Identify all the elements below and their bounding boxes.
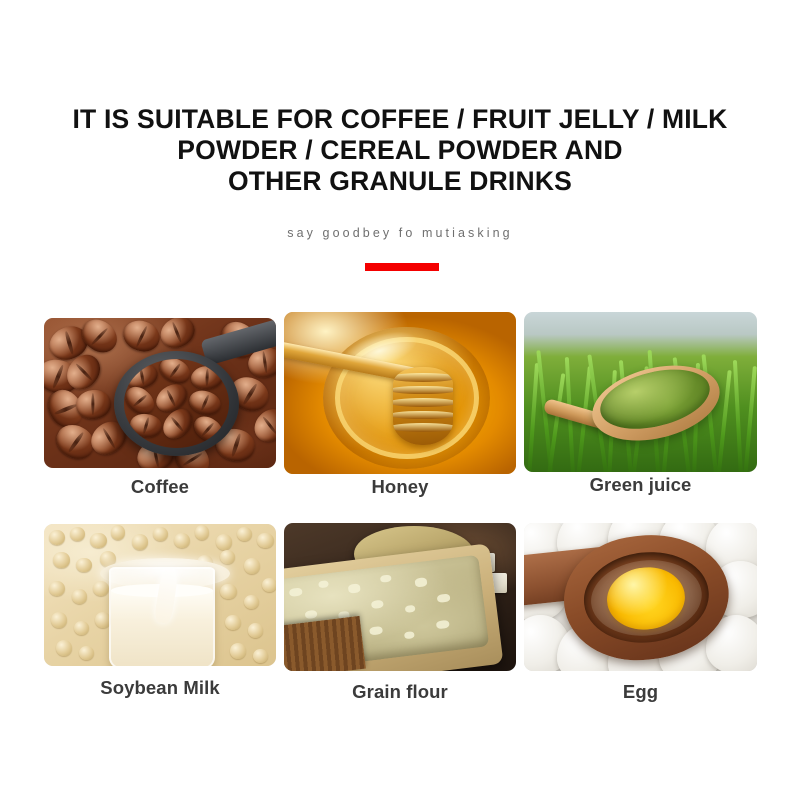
gallery-item-coffee[interactable]: Coffee xyxy=(44,318,276,468)
gallery-item-honey[interactable]: Honey xyxy=(284,312,516,474)
gallery-caption: Egg xyxy=(524,681,757,703)
gallery-caption: Green juice xyxy=(524,474,757,496)
gallery-item-grain-flour[interactable]: Grain flour xyxy=(284,523,516,671)
gallery-caption: Coffee xyxy=(44,476,276,498)
gallery-caption: Soybean Milk xyxy=(44,677,276,699)
gallery-item-egg[interactable]: Egg xyxy=(524,523,757,671)
grain-flour-tray-photo xyxy=(284,523,516,671)
gallery-caption: Honey xyxy=(284,476,516,498)
product-use-gallery: Coffee Honey xyxy=(0,0,800,800)
product-feature-page: IT IS SUITABLE FOR COFFEE / FRUIT JELLY … xyxy=(0,0,800,800)
egg-yolk-spoon-photo xyxy=(524,523,757,671)
coffee-beans-scoop-photo xyxy=(44,318,276,468)
green-powder-spoon-photo xyxy=(524,312,757,472)
gallery-item-soybean-milk[interactable]: Soybean Milk xyxy=(44,524,276,666)
gallery-item-green-juice[interactable]: Green juice xyxy=(524,312,757,472)
gallery-caption: Grain flour xyxy=(284,681,516,703)
soybean-milk-glass-photo xyxy=(44,524,276,666)
honey-dipper-photo xyxy=(284,312,516,474)
